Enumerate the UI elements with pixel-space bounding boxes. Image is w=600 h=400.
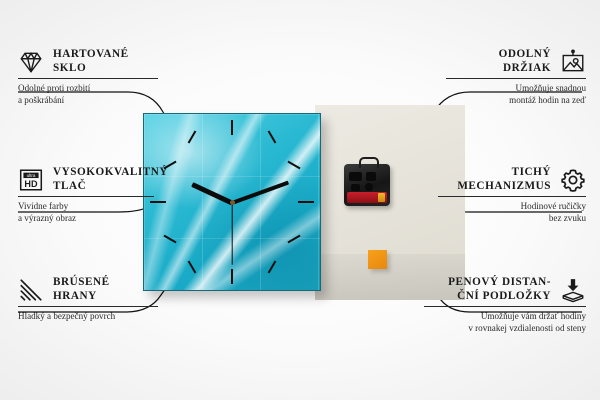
- feature-desc: Hladký a bezpečný povrch: [18, 311, 158, 322]
- mechanism-slot: [351, 184, 360, 191]
- feature-desc: Umožňuje vám držať hodiny v rovnakej vzd…: [424, 311, 586, 334]
- feature-rule: [438, 196, 586, 197]
- feature-rule: [18, 196, 154, 197]
- clock-tick: [231, 269, 233, 284]
- feature-rule: [446, 78, 586, 79]
- feature-durable-holder: ODOLNÝ DRŽIAK Umožňuje snadnou montáž ho…: [446, 48, 586, 106]
- clock-tick: [298, 201, 314, 203]
- feature-title: HARTOVANÉ SKLO: [53, 48, 129, 75]
- feature-title: PENOVÝ DISTAN- ČNÍ PODLOŽKY: [448, 276, 551, 303]
- foam-spacer-icon: [560, 277, 586, 303]
- infographic-canvas: HARTOVANÉ SKLO Odolné proti rozbití a po…: [0, 0, 600, 400]
- foam-spacer-pad: [368, 250, 387, 269]
- diamond-icon: [18, 49, 44, 75]
- feature-desc: Vivídne farby a výrazný obraz: [18, 201, 154, 224]
- feature-rule: [18, 306, 158, 307]
- feature-hardened-glass: HARTOVANÉ SKLO Odolné proti rozbití a po…: [18, 48, 158, 106]
- clock-second-hand: [231, 202, 232, 264]
- feature-high-quality-print: ultra HD VYSOKOKVALITNÝ TLAČ Vivídne far…: [18, 166, 154, 224]
- feature-rule: [424, 306, 586, 307]
- feature-desc: Umožňuje snadnou montáž hodin na zeď: [446, 83, 586, 106]
- clock-tick: [231, 120, 233, 135]
- clock-mechanism: [344, 164, 390, 206]
- feature-rule: [18, 78, 158, 79]
- mechanism-hanger: [359, 157, 379, 168]
- battery: [347, 192, 387, 203]
- feature-desc: Hodinové ručičky bez zvuku: [438, 201, 586, 224]
- feature-desc: Odolné proti rozbití a poškrábání: [18, 83, 158, 106]
- ultra-hd-icon: ultra HD: [18, 167, 44, 193]
- feature-silent-mechanism: TICHÝ MECHANIZMUS Hodinové ručičky bez z…: [438, 166, 586, 224]
- mechanism-dial: [365, 183, 373, 191]
- clock-center-pin: [230, 200, 235, 205]
- feature-title: VYSOKOKVALITNÝ TLAČ: [53, 166, 168, 193]
- feature-title: ODOLNÝ DRŽIAK: [499, 48, 551, 75]
- feature-title: TICHÝ MECHANIZMUS: [457, 166, 551, 193]
- feature-title: BRÚSENÉ HRANY: [53, 276, 110, 303]
- mechanism-slot: [349, 172, 362, 181]
- feature-polished-edges: BRÚSENÉ HRANY Hladký a bezpečný povrch: [18, 276, 158, 323]
- ultra-label: ultra: [27, 173, 36, 178]
- gear-icon: [560, 167, 586, 193]
- mechanism-slot: [366, 172, 376, 181]
- picture-frame-icon: [560, 49, 586, 75]
- product-photo: [135, 105, 465, 300]
- brushed-edges-icon: [18, 277, 44, 303]
- hd-label: HD: [24, 179, 38, 189]
- feature-foam-spacers: PENOVÝ DISTAN- ČNÍ PODLOŽKY Umožňuje vám…: [424, 276, 586, 334]
- wall-clock: [143, 113, 321, 291]
